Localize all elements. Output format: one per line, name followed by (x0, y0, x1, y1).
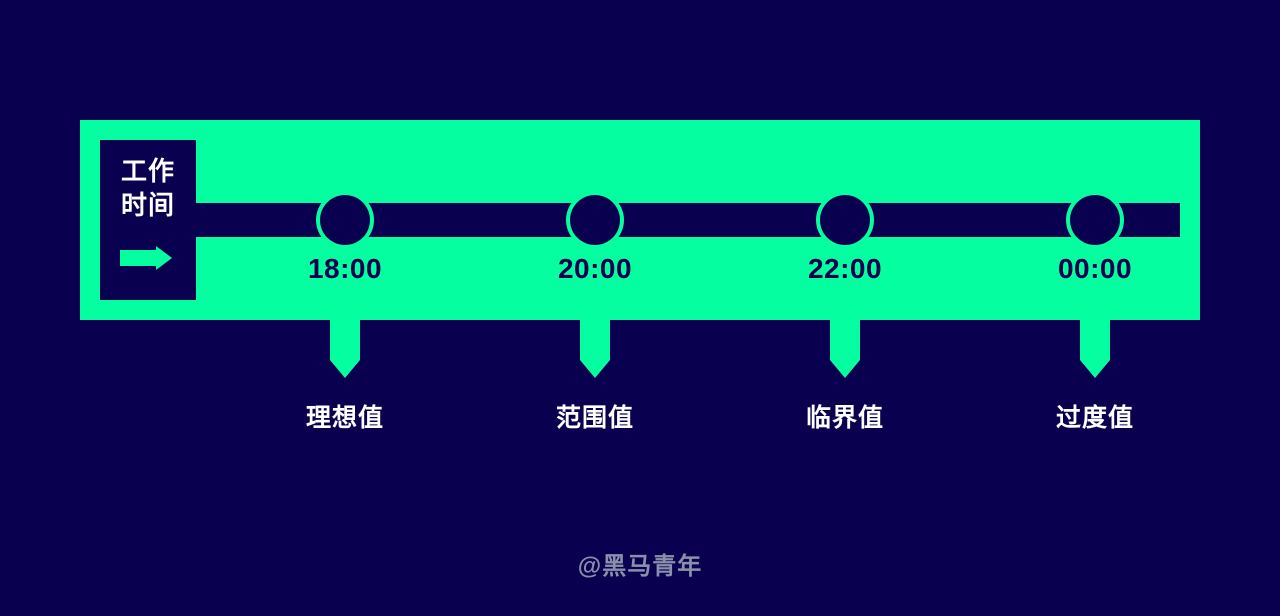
category-label: 理想值 (235, 398, 455, 434)
infographic-canvas: 工作 时间 18:00 理想值 20:00 范围值 22:00 临界值 00:0… (0, 0, 1280, 616)
timeline-node[interactable] (1066, 191, 1124, 249)
time-label: 00:00 (995, 253, 1195, 285)
category-label: 过度值 (985, 398, 1205, 434)
timeline-node[interactable] (816, 191, 874, 249)
node-dot-icon (570, 195, 620, 245)
down-pointer-icon (580, 320, 610, 378)
node-dot-icon (820, 195, 870, 245)
time-label: 20:00 (495, 253, 695, 285)
category-label: 范围值 (485, 398, 705, 434)
node-dot-icon (1070, 195, 1120, 245)
down-pointer-icon (330, 320, 360, 378)
time-label: 18:00 (245, 253, 445, 285)
right-arrow-icon (120, 246, 172, 270)
category-label: 临界值 (735, 398, 955, 434)
working-hours-title: 工作 时间 (100, 154, 196, 223)
timeline-node[interactable] (316, 191, 374, 249)
node-dot-icon (320, 195, 370, 245)
time-label: 22:00 (745, 253, 945, 285)
working-hours-card: 工作 时间 (100, 140, 196, 300)
down-pointer-icon (1080, 320, 1110, 378)
watermark: @黑马青年 (0, 546, 1280, 581)
down-pointer-icon (830, 320, 860, 378)
timeline-node[interactable] (566, 191, 624, 249)
